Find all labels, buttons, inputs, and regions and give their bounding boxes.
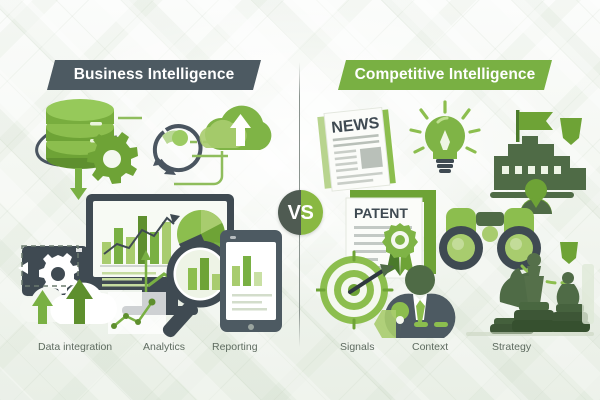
- caption-signals: Signals: [340, 341, 374, 353]
- lightbulb-icon: [411, 102, 479, 173]
- recycle-arrows-icon: [153, 126, 201, 175]
- cloud-upload-icon: [200, 106, 272, 150]
- banner-competitive-intelligence-label: Competitive Intelligence: [355, 66, 536, 84]
- banner-competitive-intelligence: Competitive Intelligence: [338, 60, 552, 90]
- caption-analytics: Analytics: [143, 341, 185, 353]
- banner-business-intelligence-label: Business Intelligence: [74, 66, 235, 84]
- sparkline-card-icon: [108, 292, 166, 334]
- binoculars-icon: [439, 208, 541, 270]
- caption-context: Context: [412, 341, 448, 353]
- infographic-canvas: NEWS: [0, 0, 600, 400]
- vs-badge: VS: [278, 190, 323, 235]
- vs-badge-label: VS: [288, 203, 314, 223]
- business-intelligence-illustration: [14, 96, 289, 346]
- newspaper-icon: NEWS: [317, 108, 396, 192]
- banner-business-intelligence: Business Intelligence: [47, 60, 261, 90]
- caption-strategy: Strategy: [492, 341, 531, 353]
- tablet-icon: [220, 230, 282, 332]
- down-arrow-icon: [70, 168, 87, 200]
- background-pillar: [582, 264, 594, 324]
- patent-title: PATENT: [354, 205, 408, 221]
- shield-badge-icon: [560, 118, 582, 264]
- caption-reporting: Reporting: [212, 341, 258, 353]
- chess-pieces-icon: [466, 253, 594, 336]
- gear-icon: [87, 132, 138, 184]
- competitive-intelligence-illustration: NEWS: [316, 96, 594, 346]
- caption-data-integration: Data integration: [38, 341, 112, 353]
